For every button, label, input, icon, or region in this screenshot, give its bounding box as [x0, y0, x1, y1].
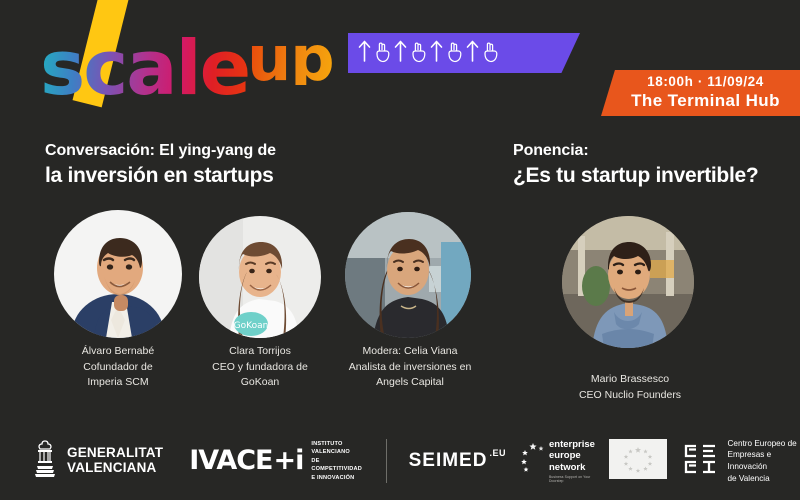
een-tagline: Business Support on Your Doorstep: [549, 475, 598, 483]
svg-text:GoKoan: GoKoan: [234, 321, 269, 331]
logo-word-scale: scale: [40, 37, 249, 99]
event-poster: scale up 18:00h · 11/09/24 The Term: [0, 0, 800, 500]
speaker-role-line2: GoKoan: [190, 375, 330, 391]
logo-ivace: IVACE +i INSTITUTO VALENCIANO DE COMPETI…: [189, 440, 364, 482]
arrow-up-icon: [394, 40, 407, 66]
victory-hand-icon: [483, 41, 498, 66]
ivace-plus-i: +i: [273, 445, 303, 476]
event-venue: The Terminal Hub: [631, 91, 780, 111]
victory-hand-icon: [447, 41, 462, 66]
sponsor-footer: GENERALITAT VALENCIANA IVACE +i INSTITUT…: [0, 422, 800, 500]
seimed-wordmark: SEIMED: [409, 450, 488, 472]
speaker-photo-clara: GoKoan: [199, 216, 321, 338]
victory-hand-icon: [411, 41, 426, 66]
speaker-name: Modera: Celia Viana: [338, 344, 482, 360]
logo-seimed: SEIMED .EU: [409, 450, 506, 472]
speaker-name: Álvaro Bernabé: [44, 344, 192, 360]
speaker-photo-celia: [345, 212, 471, 338]
speaker-role-line1: Cofundador de: [44, 360, 192, 376]
scaleup-logo: scale up: [40, 34, 334, 99]
speaker-name: Mario Brassesco: [558, 372, 702, 388]
een-line3: network: [549, 462, 598, 474]
generalitat-line1: GENERALITAT: [67, 446, 163, 461]
een-line1: enterprise: [549, 439, 598, 451]
ceei-mark-icon: [681, 443, 719, 480]
een-line2: europe: [549, 450, 598, 462]
ivace-sub-line1: INSTITUTO VALENCIANO: [311, 440, 363, 457]
logo-eu-flag: [609, 439, 667, 484]
arrow-icon-banner: [348, 33, 580, 73]
ivace-sub-line2: DE COMPETITIVIDAD: [311, 457, 363, 474]
een-stars-icon: [520, 441, 546, 480]
ceei-line3: de Valencia: [727, 473, 800, 485]
generalitat-line2: VALENCIANA: [67, 461, 163, 476]
speaker-role-line1: Analista de inversiones en: [338, 360, 482, 376]
speaker-caption-alvaro: Álvaro Bernabé Cofundador de Imperia SCM: [44, 344, 192, 391]
speaker-photo-mario: [562, 216, 694, 348]
arrow-up-icon: [358, 40, 371, 66]
speaker-role-line2: Angels Capital: [338, 375, 482, 391]
date-venue-badge: 18:00h · 11/09/24 The Terminal Hub: [601, 70, 800, 116]
logo-word-up: up: [247, 34, 334, 85]
generalitat-emblem-icon: [32, 439, 58, 484]
logo-enterprise-europe-network: enterprise europe network Business Suppo…: [520, 439, 598, 484]
speaker-role-line1: CEO Nuclio Founders: [558, 388, 702, 404]
victory-hand-icon: [375, 41, 390, 66]
ceei-line1: Centro Europeo de: [727, 438, 800, 450]
ivace-sub-line3: E INNOVACIÓN: [311, 474, 363, 482]
logo-generalitat-valenciana: GENERALITAT VALENCIANA: [32, 439, 163, 484]
arrow-up-icon: [430, 40, 443, 66]
european-union-flag-icon: [609, 439, 667, 484]
arrow-up-icon: [466, 40, 479, 66]
speaker-role-line1: CEO y fundadora de: [190, 360, 330, 376]
seimed-domain: .EU: [489, 448, 506, 458]
headline-right-kicker: Ponencia:: [513, 140, 758, 162]
headline-left: Conversación: El ying-yang de la inversi…: [45, 140, 276, 189]
logo-ceei: Centro Europeo de Empresas e Innovación …: [681, 438, 800, 485]
ivace-wordmark: IVACE: [189, 445, 272, 476]
speaker-caption-celia: Modera: Celia Viana Analista de inversio…: [338, 344, 482, 391]
speaker-role-line2: Imperia SCM: [44, 375, 192, 391]
headline-left-kicker: Conversación: El ying-yang de: [45, 140, 276, 162]
headline-right: Ponencia: ¿Es tu startup invertible?: [513, 140, 758, 189]
headline-right-title: ¿Es tu startup invertible?: [513, 162, 758, 189]
ceei-line2: Empresas e Innovación: [727, 449, 800, 472]
speaker-photo-alvaro: [54, 210, 182, 338]
speaker-name: Clara Torrijos: [190, 344, 330, 360]
event-datetime: 18:00h · 11/09/24: [647, 74, 764, 91]
headline-left-title: la inversión en startups: [45, 162, 276, 189]
speaker-caption-mario: Mario Brassesco CEO Nuclio Founders: [558, 372, 702, 403]
footer-divider: [386, 439, 387, 483]
speaker-caption-clara: Clara Torrijos CEO y fundadora de GoKoan: [190, 344, 330, 391]
